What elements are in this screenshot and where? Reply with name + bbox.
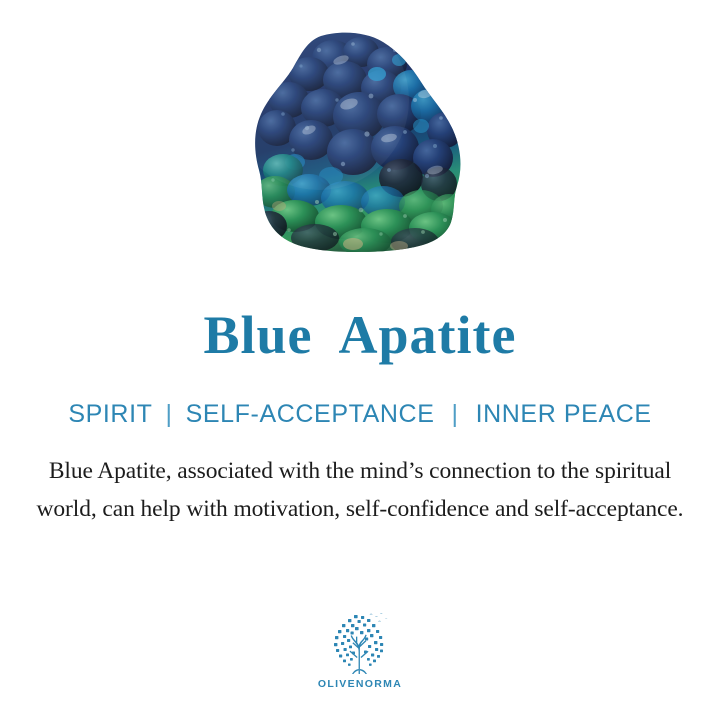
birds-icon: [370, 613, 388, 621]
product-info-card: Blue Apatite SPIRIT | SELF-ACCEPTANCE | …: [0, 0, 720, 720]
keyword-separator: |: [153, 399, 186, 429]
keyword-separator-2: |: [434, 399, 475, 429]
brand-logo: OLIVENORMA: [0, 612, 720, 690]
keyword-inner-peace: INNER PEACE: [476, 399, 652, 429]
description-text: Blue Apatite, associated with the mind’s…: [28, 452, 692, 528]
blue-apatite-stone-image: [249, 30, 471, 258]
page-title: Blue Apatite: [0, 306, 720, 364]
brand-name: OLIVENORMA: [318, 678, 402, 690]
rock-body: [249, 30, 471, 258]
keyword-self-acceptance: SELF-ACCEPTANCE: [186, 399, 435, 429]
keyword-list: SPIRIT | SELF-ACCEPTANCE | INNER PEACE: [0, 399, 720, 429]
specimen-image-container: [0, 22, 720, 258]
keyword-spirit: SPIRIT: [68, 399, 152, 429]
tree-logo-icon: [324, 612, 396, 676]
